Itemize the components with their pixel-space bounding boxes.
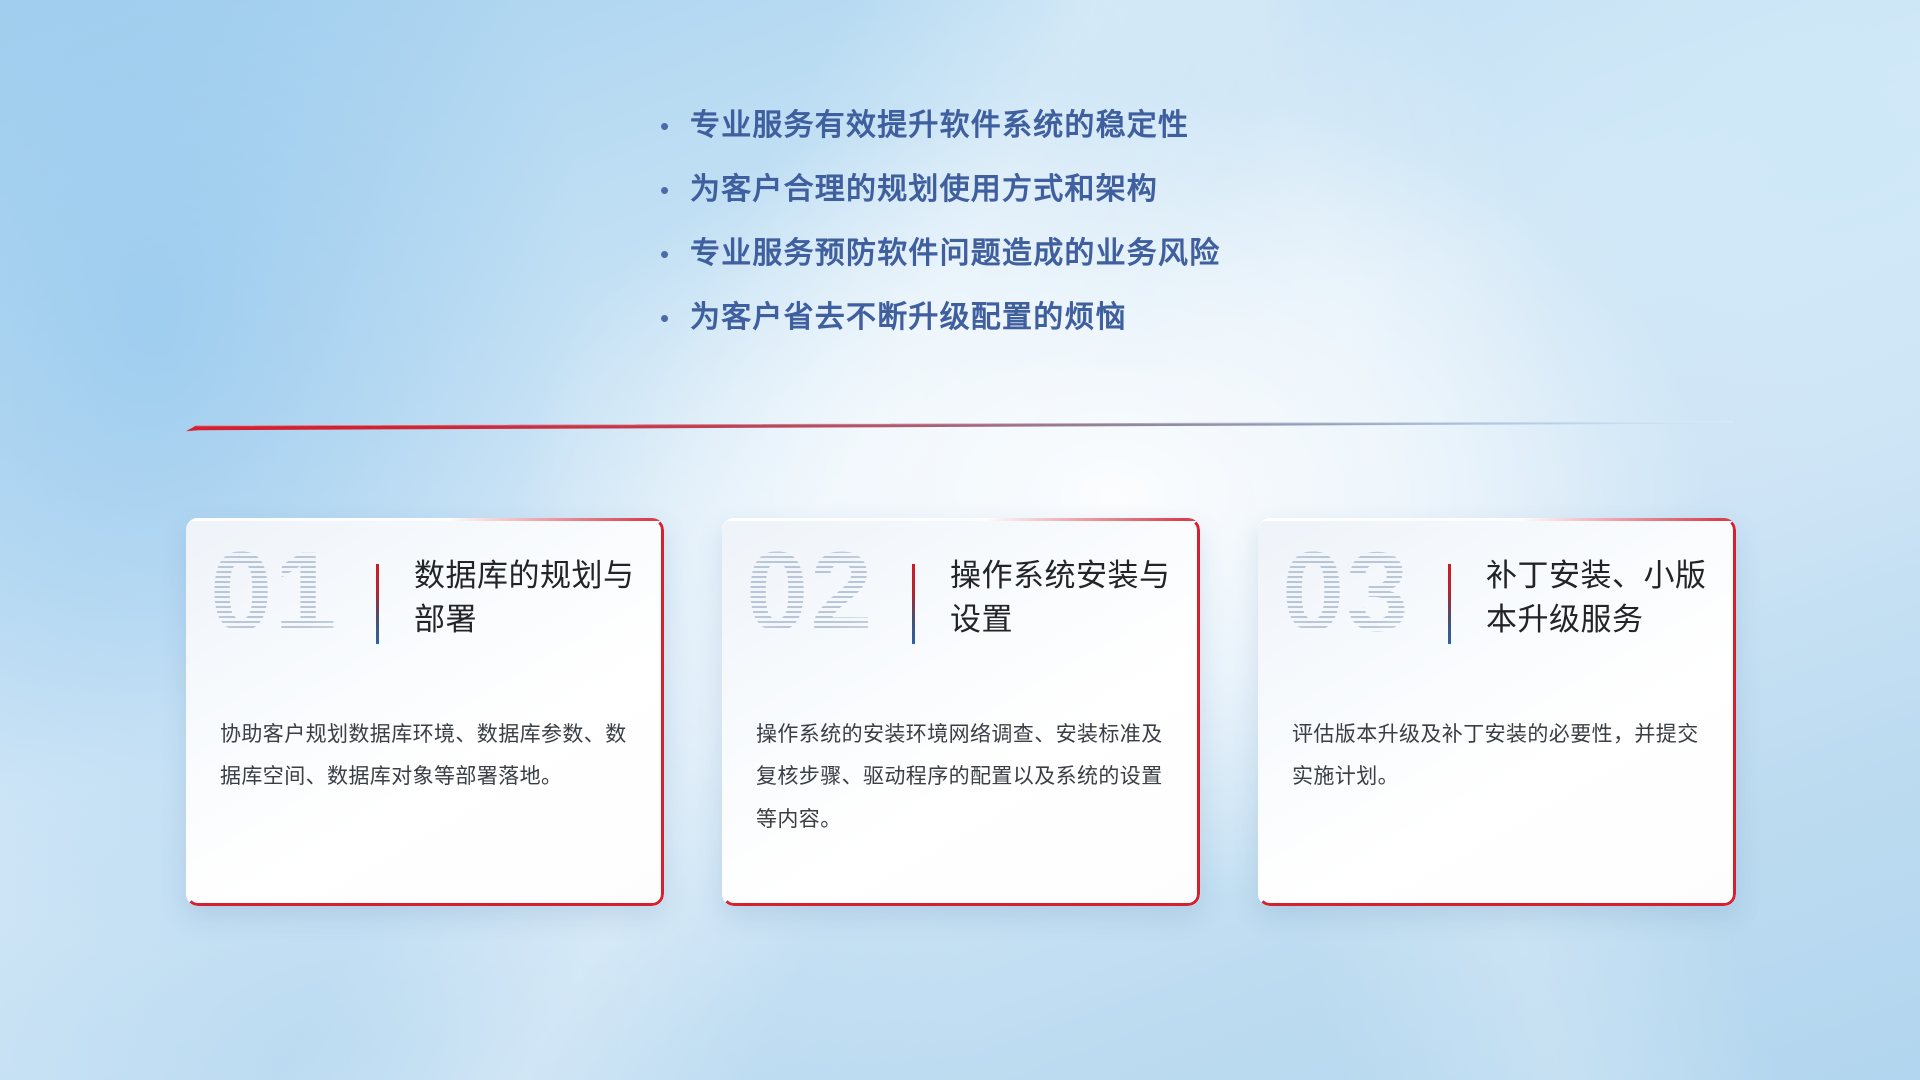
bullet-dot-icon: • [660,177,690,203]
section-divider [186,418,1734,436]
card-description: 评估版本升级及补丁安装的必要性，并提交实施计划。 [1292,714,1712,799]
bullet-text: 为客户合理的规划使用方式和架构 [690,164,1158,208]
card-header: 02 操作系统安装与设置 [722,518,1200,690]
card-title: 数据库的规划与部署 [414,554,644,642]
benefits-bullet-list: • 专业服务有效提升软件系统的稳定性 • 为客户合理的规划使用方式和架构 • 专… [660,100,1220,356]
card-title-divider [376,564,379,644]
card-header: 03 补丁安装、小版本升级服务 [1258,518,1736,690]
card-title-divider [912,564,915,644]
slide-canvas: • 专业服务有效提升软件系统的稳定性 • 为客户合理的规划使用方式和架构 • 专… [0,0,1920,1080]
list-item: • 为客户省去不断升级配置的烦恼 [660,292,1220,356]
card-description: 协助客户规划数据库环境、数据库参数、数据库空间、数据库对象等部署落地。 [220,714,640,799]
bullet-text: 专业服务有效提升软件系统的稳定性 [690,100,1189,144]
card-number-watermark: 02 [746,536,875,648]
card-title: 补丁安装、小版本升级服务 [1486,554,1716,642]
card-title: 操作系统安装与设置 [950,554,1180,642]
list-item: • 为客户合理的规划使用方式和架构 [660,164,1220,228]
bullet-text: 专业服务预防软件问题造成的业务风险 [690,228,1220,272]
service-card[interactable]: 01 数据库的规划与部署 协助客户规划数据库环境、数据库参数、数据库空间、数据库… [186,518,664,906]
bullet-dot-icon: • [660,113,690,139]
bullet-dot-icon: • [660,241,690,267]
card-number-watermark: 01 [210,536,339,648]
card-description: 操作系统的安装环境网络调查、安装标准及复核步骤、驱动程序的配置以及系统的设置等内… [756,714,1176,841]
bullet-dot-icon: • [660,305,690,331]
service-card[interactable]: 02 操作系统安装与设置 操作系统的安装环境网络调查、安装标准及复核步骤、驱动程… [722,518,1200,906]
tapered-line-icon [186,418,1734,436]
bullet-text: 为客户省去不断升级配置的烦恼 [690,292,1127,336]
service-card[interactable]: 03 补丁安装、小版本升级服务 评估版本升级及补丁安装的必要性，并提交实施计划。 [1258,518,1736,906]
list-item: • 专业服务有效提升软件系统的稳定性 [660,100,1220,164]
service-card-list: 01 数据库的规划与部署 协助客户规划数据库环境、数据库参数、数据库空间、数据库… [186,518,1736,918]
card-title-divider [1448,564,1451,644]
list-item: • 专业服务预防软件问题造成的业务风险 [660,228,1220,292]
card-header: 01 数据库的规划与部署 [186,518,664,690]
card-number-watermark: 03 [1282,536,1411,648]
